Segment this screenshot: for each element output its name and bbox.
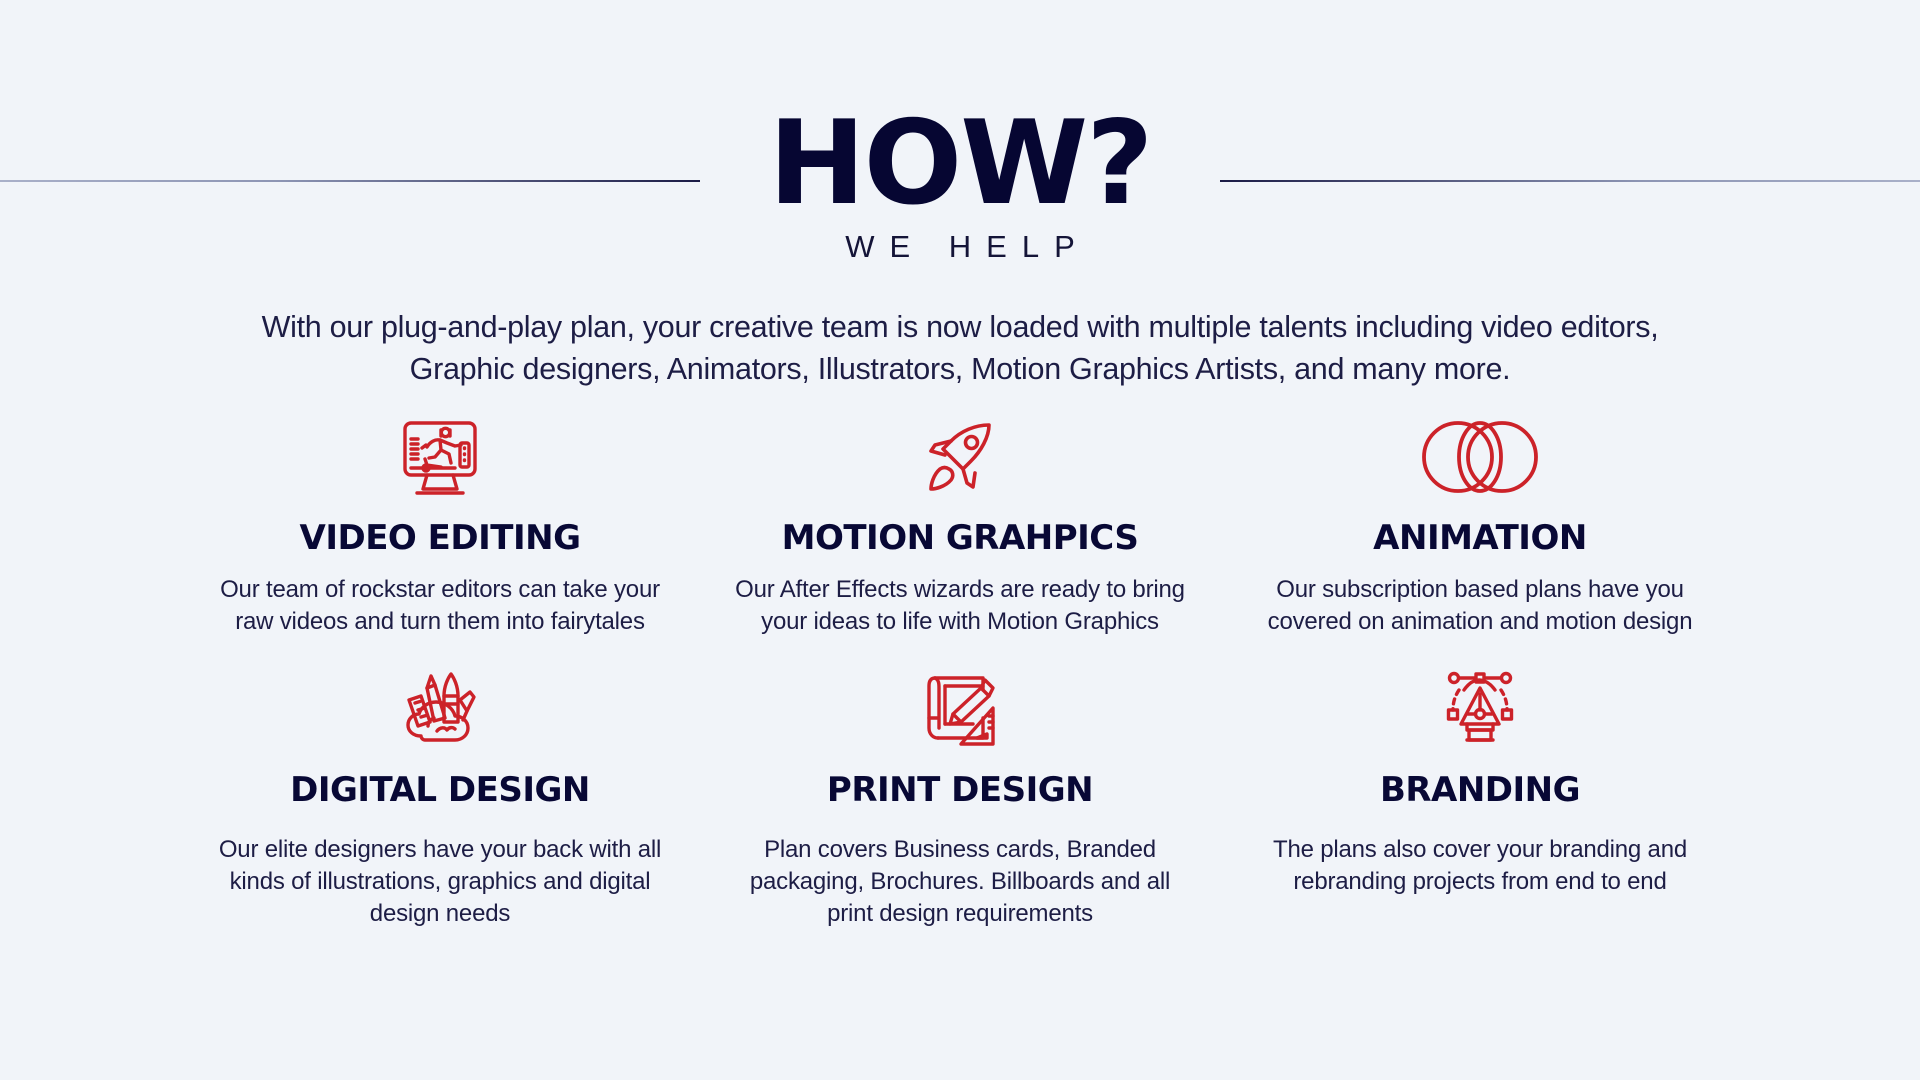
service-body: Our subscription based plans have you co…: [1254, 574, 1706, 638]
page-subtitle: WE HELP: [769, 229, 1152, 265]
service-card-motion-graphics: MOTION GRAHPICS Our After Effects wizard…: [700, 414, 1220, 638]
blueprint-pencil-ruler-icon: [734, 664, 1186, 752]
divider-line-right: [1220, 180, 1920, 182]
service-body: The plans also cover your branding and r…: [1254, 834, 1706, 898]
service-title: PRINT DESIGN: [734, 770, 1186, 810]
how-we-help-section: HOW? WE HELP With our plug-and-play plan…: [0, 0, 1920, 1080]
overlapping-circles-icon: [1254, 414, 1706, 500]
service-body: Our team of rockstar editors can take yo…: [214, 574, 666, 638]
divider-line-left: [0, 180, 700, 182]
video-editing-monitor-icon: [214, 414, 666, 500]
cloud-art-tools-icon: [214, 664, 666, 752]
service-card-digital-design: DIGITAL DESIGN Our elite designers have …: [180, 664, 700, 930]
service-title: ANIMATION: [1254, 518, 1706, 558]
rocket-icon: [734, 414, 1186, 500]
service-title: VIDEO EDITING: [214, 518, 666, 558]
service-card-video-editing: VIDEO EDITING Our team of rockstar edito…: [180, 414, 700, 638]
service-body: Plan covers Business cards, Branded pack…: [734, 834, 1186, 930]
service-title: DIGITAL DESIGN: [214, 770, 666, 810]
service-card-print-design: PRINT DESIGN Plan covers Business cards,…: [700, 664, 1220, 930]
title-block: HOW? WE HELP: [735, 108, 1186, 265]
pen-tool-bezier-icon: [1254, 664, 1706, 752]
services-grid: VIDEO EDITING Our team of rockstar edito…: [180, 414, 1740, 930]
service-card-branding: BRANDING The plans also cover your brand…: [1220, 664, 1740, 930]
section-header: HOW? WE HELP: [0, 0, 1920, 265]
service-title: MOTION GRAHPICS: [734, 518, 1186, 558]
service-card-animation: ANIMATION Our subscription based plans h…: [1220, 414, 1740, 638]
page-title: HOW?: [769, 108, 1152, 219]
service-body: Our After Effects wizards are ready to b…: [734, 574, 1186, 638]
intro-paragraph: With our plug-and-play plan, your creati…: [230, 307, 1690, 390]
service-body: Our elite designers have your back with …: [214, 834, 666, 930]
service-title: BRANDING: [1254, 770, 1706, 810]
